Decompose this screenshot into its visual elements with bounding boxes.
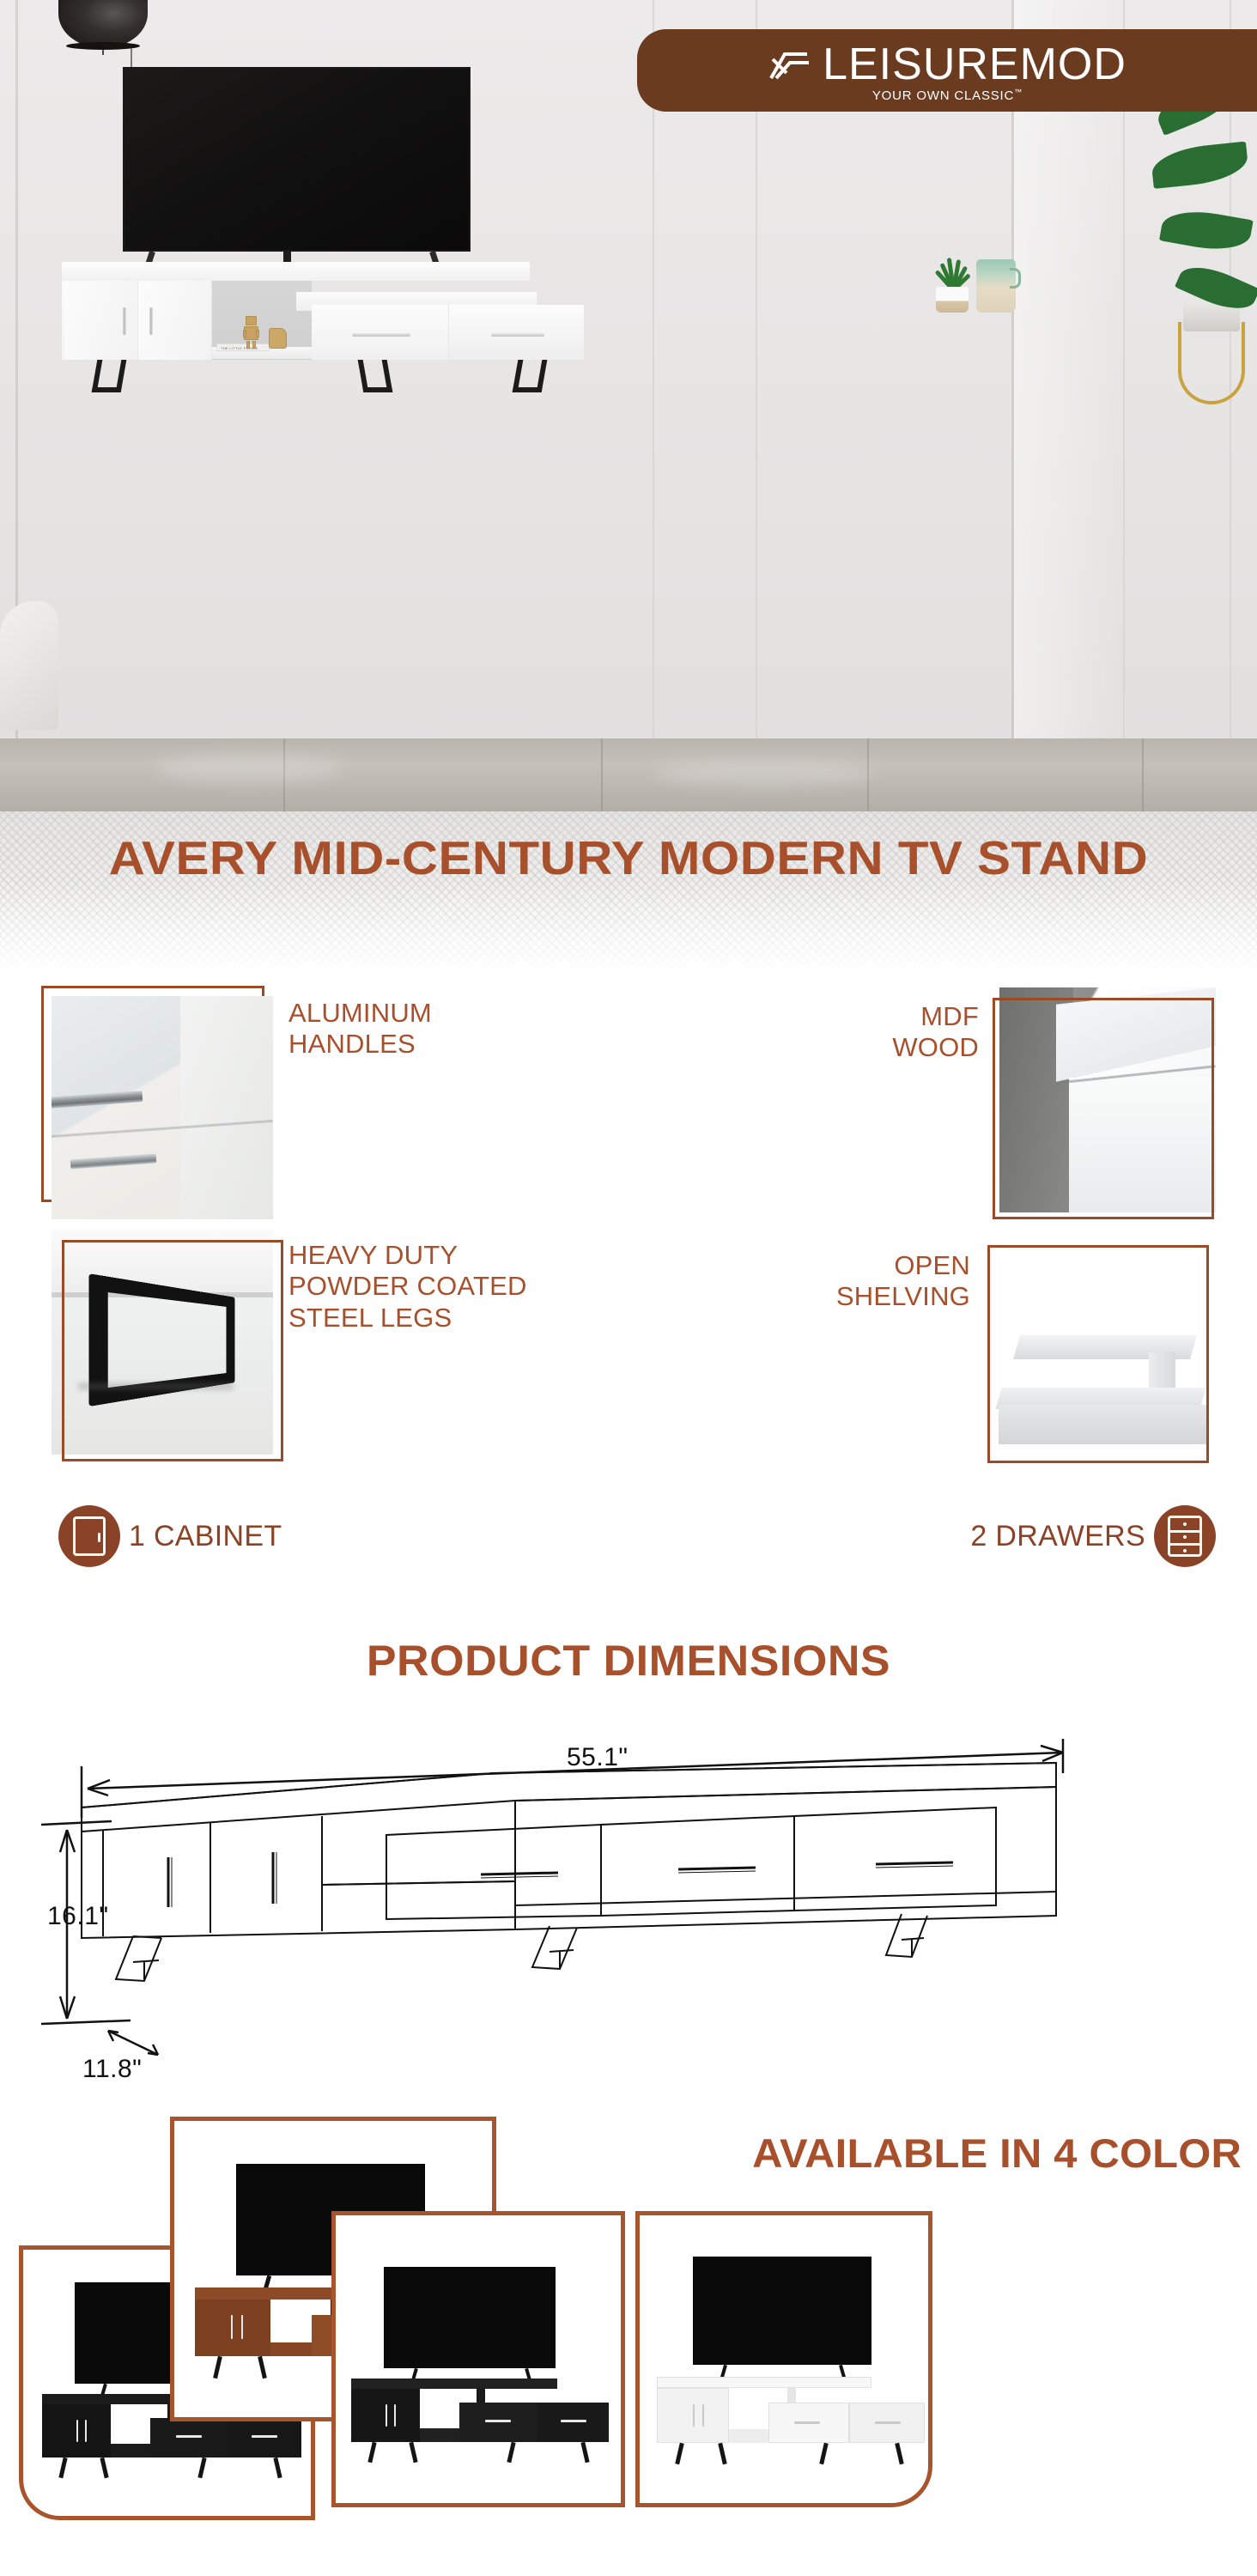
cabinet-door-left <box>64 281 138 360</box>
small-plant-pot <box>936 287 969 313</box>
feature-frame <box>987 1245 1209 1463</box>
stand-top-surface <box>62 262 530 281</box>
cabinet-handle <box>123 307 126 335</box>
wooden-horse-toy <box>269 328 287 349</box>
badge-cabinet: 1 CABINET <box>58 1505 282 1567</box>
cabinet-handle <box>149 307 153 335</box>
dimensions-drawing <box>0 1704 1257 2134</box>
feature-frame <box>993 998 1214 1219</box>
chair-logo-icon <box>768 47 812 82</box>
drawer-handle <box>352 333 410 337</box>
feature-frame <box>62 1240 283 1461</box>
variant-drawer <box>150 2418 228 2458</box>
wall-groove <box>653 0 654 756</box>
page-title: AVERY MID-CENTURY MODERN TV STAND <box>0 830 1257 885</box>
drawer-left <box>312 305 449 360</box>
cabinet-icon <box>58 1505 120 1567</box>
title-band: AVERY MID-CENTURY MODERN TV STAND <box>0 811 1257 979</box>
feature-label-line: WOOD <box>584 1032 979 1063</box>
feature-label: MDF WOOD <box>584 1001 979 1064</box>
variant-top <box>657 2377 871 2388</box>
feature-label: OPEN SHELVING <box>592 1250 970 1313</box>
wall-panel <box>1013 0 1125 756</box>
drawer-right <box>449 305 584 360</box>
badge-row: 1 CABINET 2 DRAWERS <box>0 1490 1257 1584</box>
badge-drawers: 2 DRAWERS <box>970 1505 1216 1567</box>
brand-bar: LEISUREMOD YOUR OWN CLASSIC ™ <box>637 29 1257 112</box>
dimension-depth-label: 11.8" <box>82 2055 142 2084</box>
variant-drawer <box>459 2403 537 2442</box>
feature-label-line: MDF <box>584 1001 979 1032</box>
decor-sculpture <box>0 601 58 730</box>
variant-cabinet <box>195 2300 270 2356</box>
color-variant-card-black-gloss[interactable] <box>331 2211 625 2507</box>
colors-heading: AVAILABLE IN 4 COLOR <box>616 2129 1242 2177</box>
trademark-symbol: ™ <box>1014 88 1022 96</box>
steel-leg <box>513 360 548 392</box>
badge-label: 1 CABINET <box>129 1520 282 1553</box>
color-variant-card-white[interactable] <box>635 2211 932 2507</box>
drawers-icon <box>1154 1505 1216 1567</box>
flat-screen-tv <box>123 67 471 252</box>
brand-tagline: YOUR OWN CLASSIC <box>872 88 1014 103</box>
feature-label-line: OPEN <box>592 1250 970 1281</box>
variant-top <box>351 2379 557 2389</box>
potted-agave-plant <box>929 247 976 290</box>
variant-tv <box>384 2267 556 2368</box>
steel-leg <box>92 360 127 392</box>
variant-drawer <box>228 2418 301 2458</box>
dimension-width-label: 55.1" <box>567 1743 628 1772</box>
variant-tv <box>693 2257 871 2365</box>
steel-leg <box>358 360 393 392</box>
dimensions-diagram: 55.1" 16.1" 11.8" <box>0 1704 1257 2134</box>
variant-drawer <box>537 2403 609 2442</box>
dimension-height-label: 16.1" <box>47 1902 109 1931</box>
dimensions-heading: PRODUCT DIMENSIONS <box>0 1636 1257 1686</box>
hero-image: THE LITTLE PRINCE <box>0 0 1257 811</box>
wooden-robot-toy <box>243 316 259 349</box>
gold-plant-stand <box>1178 322 1245 404</box>
badge-label: 2 DRAWERS <box>970 1520 1145 1553</box>
brand-name: LEISUREMOD <box>823 39 1126 90</box>
wall-groove <box>1123 0 1125 756</box>
wall-groove <box>1011 0 1014 756</box>
feature-label-line: SHELVING <box>592 1281 970 1312</box>
aluminum-handle-photo <box>52 996 273 1219</box>
wall-groove <box>756 0 757 756</box>
drawer-handle <box>491 333 544 337</box>
room-floor <box>0 738 1257 811</box>
ceramic-jug <box>976 259 1016 313</box>
infographic-page: THE LITTLE PRINCE <box>0 0 1257 2576</box>
